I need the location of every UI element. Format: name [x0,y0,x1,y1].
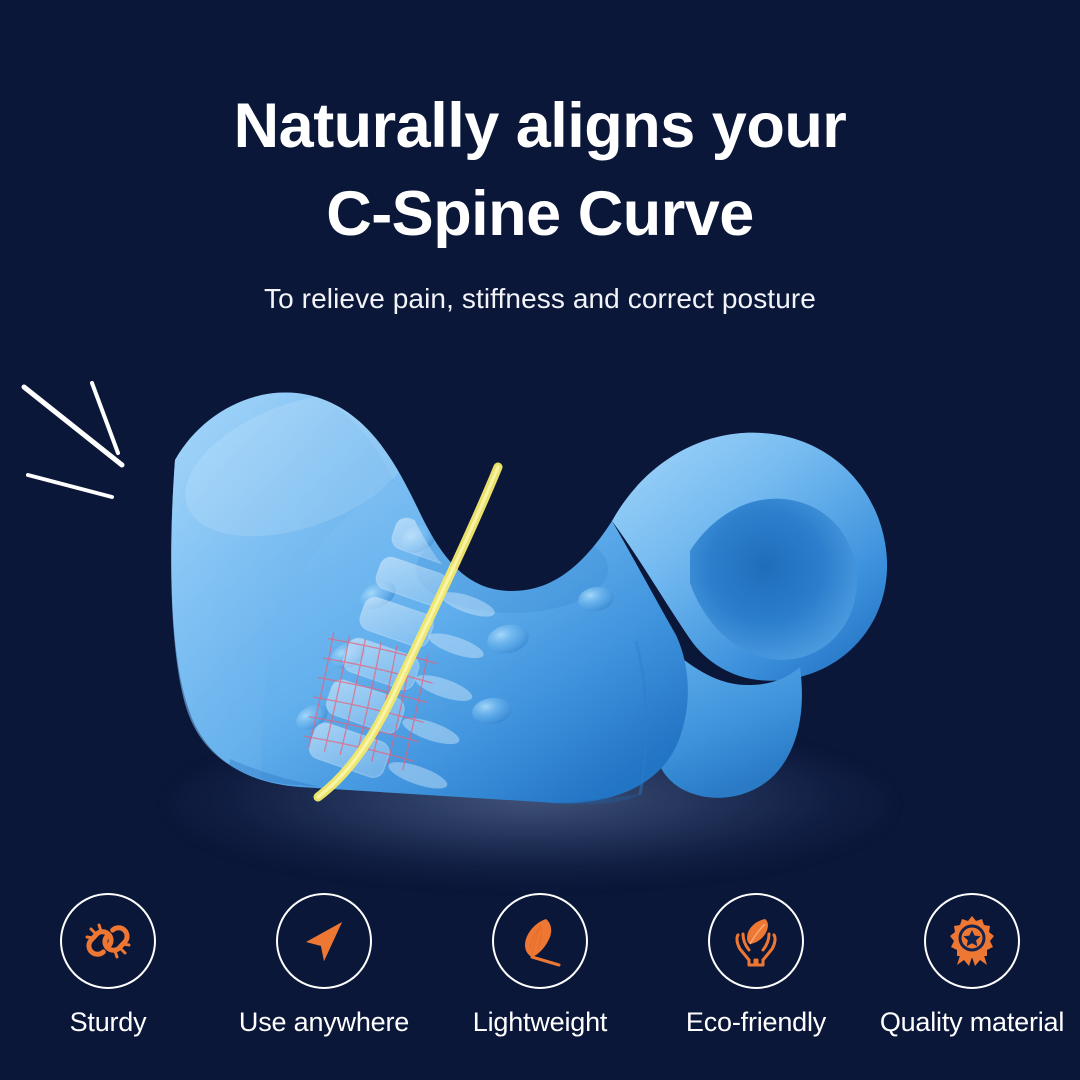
feature-item[interactable]: Eco-friendly [648,893,864,1038]
feature-icon-ring [276,893,372,989]
feature-item[interactable]: Use anywhere [216,893,432,1038]
feature-label: Quality material [880,1007,1064,1038]
subtitle: To relieve pain, stiffness and correct p… [0,283,1080,315]
page-title: Naturally aligns your C-Spine Curve [0,82,1080,258]
product-image [0,355,1080,875]
feature-item[interactable]: Sturdy [0,893,216,1038]
headline-line-1: Naturally aligns your [0,82,1080,170]
product-banner: Naturally aligns your C-Spine Curve To r… [0,0,1080,1080]
feature-icon-ring [492,893,588,989]
hands-holding-leaf-icon [727,912,785,970]
award-rosette-star-icon [944,913,1000,969]
sparkle-lines [24,383,122,497]
feature-label: Lightweight [473,1007,607,1038]
feather-icon [512,913,568,969]
feature-label: Eco-friendly [686,1007,826,1038]
feature-label: Use anywhere [239,1007,409,1038]
feature-icon-ring [60,893,156,989]
headline-line-2: C-Spine Curve [0,170,1080,258]
broken-chain-link-icon [80,913,136,969]
feature-item[interactable]: Quality material [864,893,1080,1038]
feature-icon-ring [924,893,1020,989]
feature-item[interactable]: Lightweight [432,893,648,1038]
feature-list: Sturdy Use anywhere [0,893,1080,1038]
paper-plane-arrow-icon [297,914,351,968]
product-stage [0,355,1080,875]
feature-icon-ring [708,893,804,989]
feature-label: Sturdy [70,1007,147,1038]
